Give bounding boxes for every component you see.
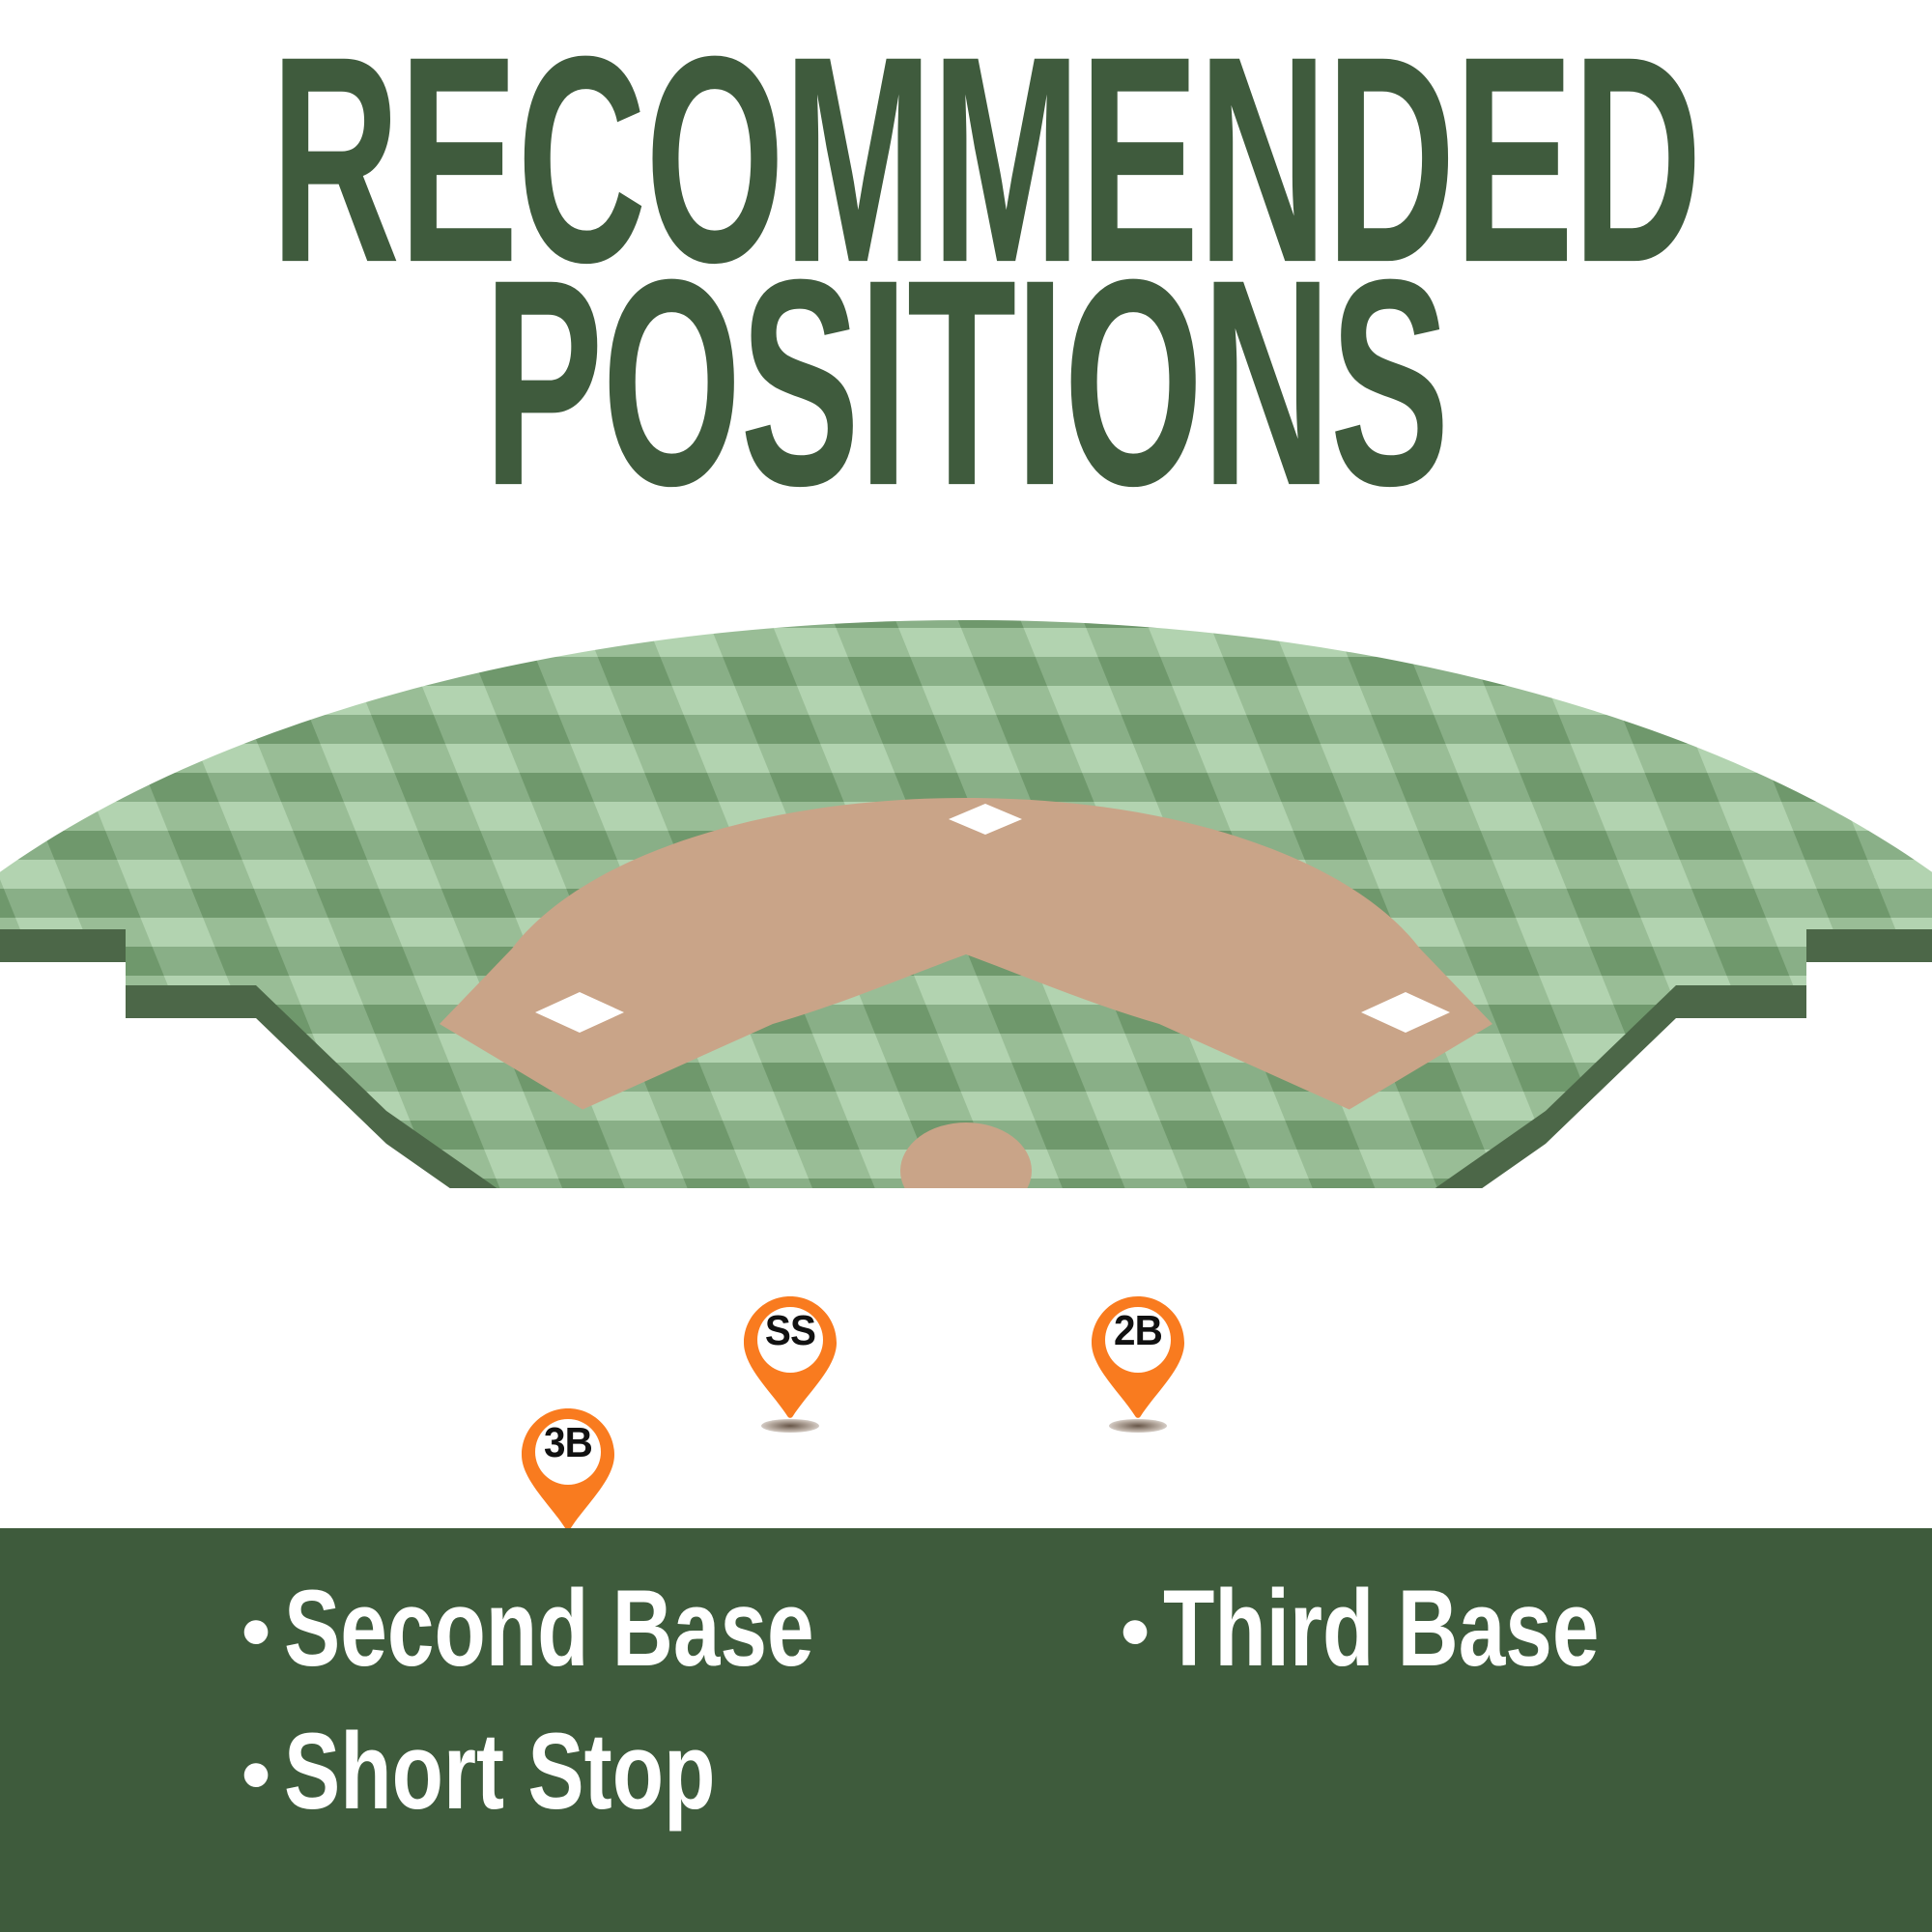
bullet-icon: • xyxy=(241,1733,270,1816)
bullet-icon: • xyxy=(1121,1590,1150,1673)
marker-pin-short-stop[interactable]: SS xyxy=(744,1296,837,1424)
list-item-label: Third Base xyxy=(1163,1575,1599,1683)
baseball-field-diagram: SS 2B 3B xyxy=(0,580,1932,1179)
list-item: • Third Base xyxy=(1121,1575,1797,1683)
bullet-icon: • xyxy=(241,1590,270,1673)
positions-list: • Second Base • Third Base • Short Stop xyxy=(241,1575,1835,1861)
list-item: • Short Stop xyxy=(241,1718,1121,1826)
marker-shadow xyxy=(1109,1419,1167,1433)
marker-label-short-stop: SS xyxy=(748,1310,833,1352)
positions-banner: • Second Base • Third Base • Short Stop xyxy=(0,1528,1932,1932)
marker-shadow xyxy=(761,1419,819,1433)
list-item-label: Second Base xyxy=(284,1575,814,1683)
marker-pin-second-base[interactable]: 2B xyxy=(1092,1296,1184,1424)
marker-label-second-base: 2B xyxy=(1095,1310,1180,1352)
marker-label-third-base: 3B xyxy=(526,1422,611,1464)
list-item-label: Short Stop xyxy=(284,1718,715,1826)
list-item: • Second Base xyxy=(241,1575,1121,1683)
page-title-line-2: POSITIONS xyxy=(270,242,1662,522)
marker-pin-third-base[interactable]: 3B xyxy=(522,1408,614,1536)
field-graphic xyxy=(0,570,1932,1188)
page-title: RECOMMENDED POSITIONS xyxy=(0,19,1932,479)
